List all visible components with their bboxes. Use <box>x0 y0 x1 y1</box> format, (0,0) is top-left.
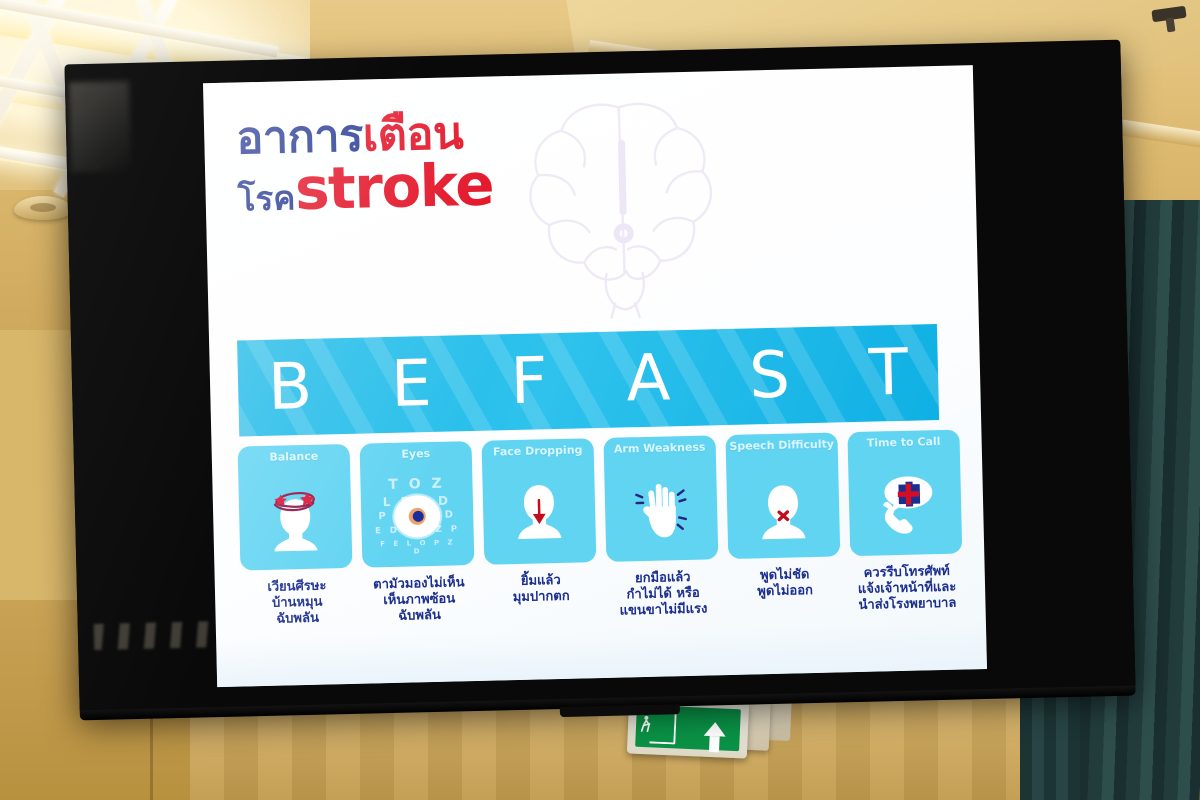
photo-scene: อาการเตือน โรคstroke B E F A S T <box>0 0 1200 800</box>
befast-letter-f: F <box>510 349 548 414</box>
befast-letter-t: T <box>868 341 909 406</box>
card-caption-balance: เวียนศีรษะ บ้านหมุน ฉับพลัน <box>241 578 354 628</box>
symptom-card-time: Time to Call <box>847 430 963 614</box>
phone-with-medical-cross-bubble-icon <box>873 471 937 538</box>
card-title-speech: Speech Difficulty <box>726 438 838 453</box>
card-title-time: Time to Call <box>848 436 960 451</box>
symptom-card-eyes: Eyes T O Z L P E D P E C F D E D F C Z P… <box>360 441 476 625</box>
befast-letter-a: A <box>626 346 671 411</box>
eye-chart-with-eyeball-icon: T O Z L P E D P E C F D E D F C Z P F E … <box>373 473 461 559</box>
symptom-card-row: Balance เวียนศีรษะ <box>238 430 956 628</box>
card-title-arm: Arm Weakness <box>604 441 716 456</box>
head-with-red-x-mouth-icon <box>757 475 809 552</box>
hand-with-motion-lines-icon <box>634 474 688 547</box>
befast-letter-b: B <box>267 355 312 420</box>
up-arrow-icon <box>704 722 727 737</box>
symptom-card-balance: Balance เวียนศีรษะ <box>238 444 354 628</box>
dizzy-head-with-stars-icon <box>269 481 321 558</box>
befast-banner: B E F A S T <box>237 324 939 436</box>
headline-prefix: โรค <box>237 178 295 218</box>
card-caption-face: ยิ้มแล้ว มุมปากตก <box>485 572 598 606</box>
befast-letter-s: S <box>748 344 790 409</box>
eye-chart-row-5: F E L O P Z D <box>375 538 461 556</box>
headline-stroke: stroke <box>294 151 494 224</box>
card-caption-time: ควรรีบโทรศัพท์ แจ้งเจ้าหน้าที่และ นำส่งโ… <box>851 564 964 614</box>
card-caption-arm: ยกมือแล้ว กำไม่ได้ หรือ แขนขาไม่มีแรง <box>607 569 720 619</box>
eye-chart-row-1: T O Z <box>373 475 459 493</box>
card-title-face: Face Dropping <box>482 444 594 459</box>
card-title-eyes: Eyes <box>360 447 472 462</box>
running-person-icon <box>641 715 652 737</box>
symptom-card-speech: Speech Difficulty พูด <box>725 432 841 616</box>
television: อาการเตือน โรคstroke B E F A S T <box>65 40 1136 713</box>
symptom-card-arm: Arm Weakness <box>603 435 719 619</box>
card-caption-speech: พูดไม่ชัด พูดไม่ออก <box>729 566 842 600</box>
card-caption-eyes: ตามัวมองไม่เห็น เห็นภาพซ้อน ฉับพลัน <box>363 575 476 625</box>
smoke-detector-icon <box>14 196 72 220</box>
slide-screen: อาการเตือน โรคstroke B E F A S T <box>203 65 987 687</box>
symptom-card-face: Face Dropping ยิ้มแล้ <box>481 438 597 622</box>
slide-headline: อาการเตือน โรคstroke <box>236 110 494 219</box>
card-title-balance: Balance <box>238 450 350 465</box>
head-with-down-arrow-icon <box>513 475 565 552</box>
befast-letter-e: E <box>390 352 432 417</box>
slide-bottom-fade <box>216 621 987 687</box>
brain-with-exclamation-icon <box>498 89 743 325</box>
